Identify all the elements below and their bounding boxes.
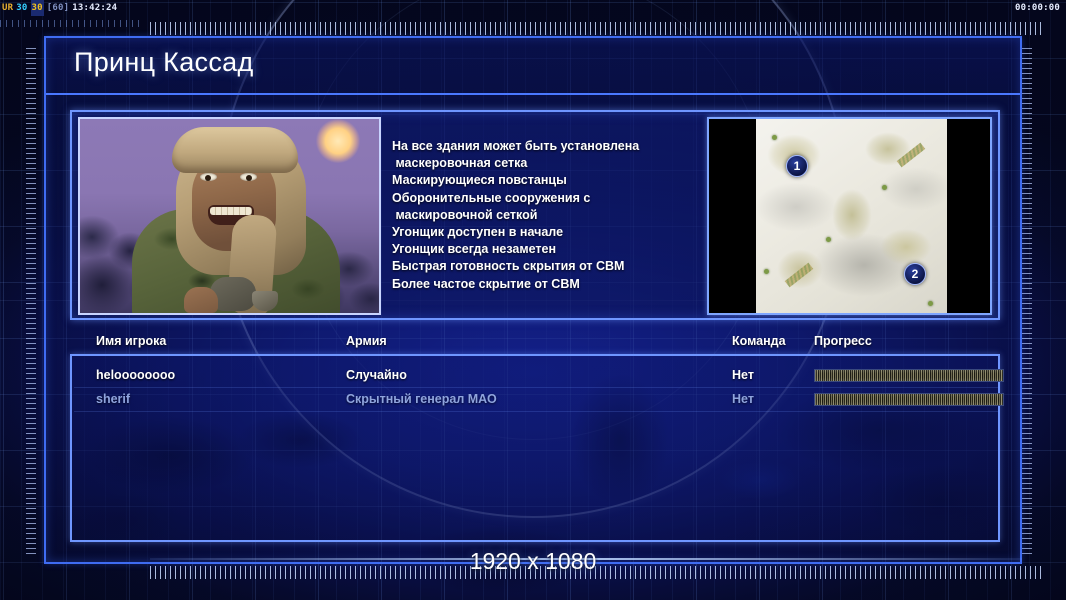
description-line: маскировочной сеткой xyxy=(392,207,692,224)
status-bar-right: 00:00:00 xyxy=(1015,0,1060,16)
ruler-top xyxy=(150,22,1044,35)
player-army[interactable]: Скрытный генерал МАО xyxy=(346,392,497,406)
map-resource-speck xyxy=(928,301,933,306)
column-header-team: Команда xyxy=(732,334,786,348)
player-name: heloooooooo xyxy=(96,368,175,382)
map-preview-frame: 12 xyxy=(707,117,992,315)
players-table-header: Имя игрока Армия Команда Прогресс xyxy=(96,334,1002,354)
map-terrain-strip xyxy=(897,143,926,168)
session-timer: 00:00:00 xyxy=(1015,0,1060,16)
general-portrait xyxy=(80,119,379,313)
pupil-right xyxy=(246,175,252,181)
status-fps-max: [60] xyxy=(47,0,69,16)
title-bar: Принц Кассад xyxy=(46,38,1020,95)
player-progress-fill xyxy=(815,394,1003,405)
map-terrain-strip xyxy=(785,263,814,288)
status-fps-current: 30 xyxy=(16,0,27,16)
ruler-right xyxy=(1022,48,1032,556)
general-info-panel: На все здания может быть установлена мас… xyxy=(70,110,1000,320)
status-bar: UR 30 30 [60] 13:42:24 00:00:00 xyxy=(0,0,1066,16)
player-team[interactable]: Нет xyxy=(732,392,754,406)
players-panel: Имя игрока Армия Команда Прогресс helooo… xyxy=(70,354,1000,542)
description-line: Угонщик всегда незаметен xyxy=(392,241,692,258)
lobby-window: Принц Кассад xyxy=(44,36,1022,564)
pupil-left xyxy=(205,175,211,181)
page-title: Принц Кассад xyxy=(74,47,254,78)
description-line: маскеровочная сетка xyxy=(392,155,692,172)
column-header-progress: Прогресс xyxy=(814,334,872,348)
map-start-position-marker[interactable]: 1 xyxy=(786,155,808,177)
player-progress-fill xyxy=(815,370,1003,381)
resolution-label: 1920 x 1080 xyxy=(0,548,1066,575)
player-army[interactable]: Случайно xyxy=(346,368,407,382)
general-description: На все здания может быть установлена мас… xyxy=(392,138,692,293)
teeth xyxy=(210,207,252,215)
hand xyxy=(184,287,218,313)
status-tag: UR xyxy=(2,0,13,16)
table-row[interactable]: sherifСкрытный генерал МАОНет xyxy=(74,388,998,412)
map-resource-speck xyxy=(882,185,887,190)
player-progress-bar xyxy=(814,393,1004,406)
player-name: sherif xyxy=(96,392,130,406)
description-line: Оборонительные сооружения с xyxy=(392,190,692,207)
map-preview: 12 xyxy=(756,119,947,313)
player-progress-bar xyxy=(814,369,1004,382)
ruler-left xyxy=(26,48,36,556)
map-start-position-marker[interactable]: 2 xyxy=(904,263,926,285)
status-clock: 13:42:24 xyxy=(72,0,117,16)
map-resource-speck xyxy=(772,135,777,140)
description-line: Маскирующиеся повстанцы xyxy=(392,172,692,189)
table-row[interactable]: helooooooooСлучайноНет xyxy=(74,364,998,388)
column-header-name: Имя игрока xyxy=(96,334,166,348)
status-fps-target: 30 xyxy=(31,0,44,16)
map-resource-speck xyxy=(764,269,769,274)
headwrap-top xyxy=(172,127,298,173)
description-line: На все здания может быть установлена xyxy=(392,138,692,155)
description-line: Угонщик доступен в начале xyxy=(392,224,692,241)
description-line: Более частое скрытие от СВМ xyxy=(392,276,692,293)
description-line: Быстрая готовность скрытия от СВМ xyxy=(392,258,692,275)
player-team[interactable]: Нет xyxy=(732,368,754,382)
map-resource-speck xyxy=(826,237,831,242)
general-portrait-frame xyxy=(78,117,381,315)
status-bar-left: UR 30 30 [60] 13:42:24 xyxy=(2,0,117,16)
ruler-top-secondary xyxy=(0,20,140,27)
column-header-army: Армия xyxy=(346,334,387,348)
